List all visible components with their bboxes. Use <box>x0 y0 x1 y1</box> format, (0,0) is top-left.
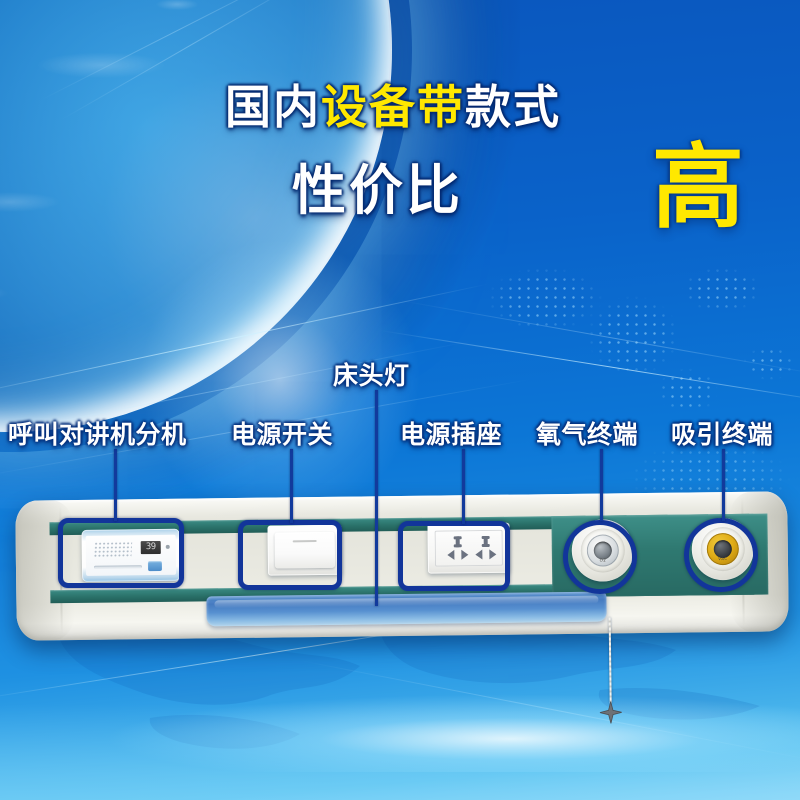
callout-label-power-socket: 电源插座 <box>400 415 502 451</box>
promo-banner: 国内设备带款式 性价比 高 呼叫对讲机分机 电源开关 床头灯 电源插座 氧气终端… <box>0 0 800 800</box>
callout-label-suction-outlet: 吸引终端 <box>671 415 773 451</box>
callout-labels: 呼叫对讲机分机 电源开关 床头灯 电源插座 氧气终端 吸引终端 <box>0 0 800 800</box>
callout-label-intercom: 呼叫对讲机分机 <box>8 415 187 451</box>
callout-label-oxygen-outlet: 氧气终端 <box>536 415 638 451</box>
callout-label-power-switch: 电源开关 <box>231 415 333 451</box>
callout-label-bedside-lamp: 床头灯 <box>333 356 410 392</box>
